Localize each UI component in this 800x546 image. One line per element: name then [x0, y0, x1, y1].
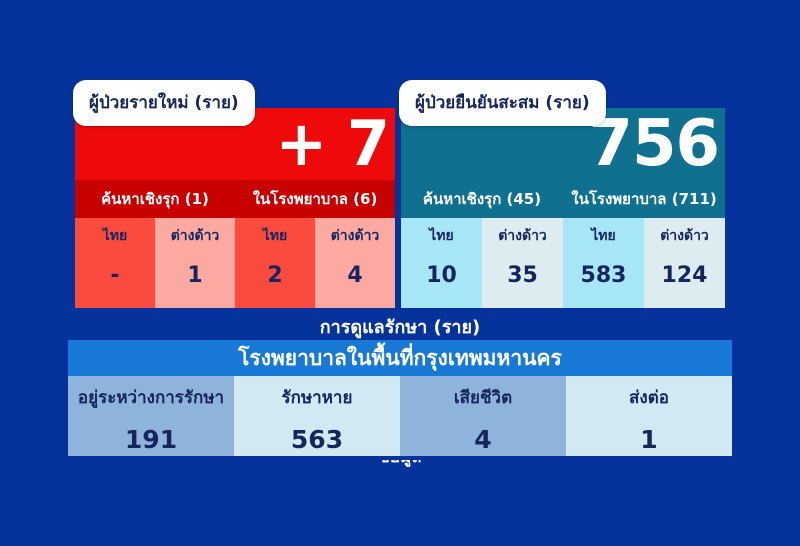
- cell-label: ไทย: [591, 225, 615, 247]
- cell-label: ต่างด้าว: [171, 225, 220, 247]
- new-cases-subheader-in-hospital: ในโรงพยาบาล (6): [235, 180, 395, 218]
- panel-new-cases: ผู้ป่วยรายใหม่ (ราย) + 7 ค้นหาเชิงรุก (1…: [75, 108, 395, 308]
- cell-value: 35: [507, 263, 538, 288]
- cell-value: 10: [426, 263, 457, 288]
- stat-panels: ผู้ป่วยรายใหม่ (ราย) + 7 ค้นหาเชิงรุก (1…: [75, 108, 725, 308]
- care-section-caption: การดูแลรักษา (ราย): [0, 312, 800, 341]
- new-cases-cells: ไทย - ต่างด้าว 1 ไทย 2 ต่างด้าว 4: [75, 218, 395, 308]
- care-cell-under-treatment: อยู่ระหว่างการรักษา 191: [68, 376, 234, 456]
- care-cell-value: 4: [474, 425, 491, 454]
- cumulative-cases-cell-screening-foreign: ต่างด้าว 35: [482, 218, 563, 308]
- cell-label: ไทย: [263, 225, 287, 247]
- care-table-cells: อยู่ระหว่างการรักษา 191 รักษาหาย 563 เสี…: [68, 376, 732, 456]
- new-cases-subheaders: ค้นหาเชิงรุก (1) ในโรงพยาบาล (6): [75, 180, 395, 218]
- new-cases-hero: ผู้ป่วยรายใหม่ (ราย) + 7: [75, 108, 395, 180]
- panel-cumulative-cases: ผู้ป่วยยืนยันสะสม (ราย) 756 ค้นหาเชิงรุก…: [401, 108, 725, 308]
- care-cell-value: 1: [640, 425, 657, 454]
- new-cases-pill-label: ผู้ป่วยรายใหม่ (ราย): [73, 80, 255, 126]
- clipped-footnote: ข้อมูล: [68, 460, 732, 472]
- new-cases-value: + 7: [275, 115, 389, 172]
- care-cell-label: ส่งต่อ: [629, 384, 669, 411]
- care-table: โรงพยาบาลในพื้นที่กรุงเทพมหานคร อยู่ระหว…: [68, 340, 732, 456]
- new-cases-cell-screening-foreign: ต่างด้าว 1: [155, 218, 235, 308]
- infographic-board: ผู้ป่วยรายใหม่ (ราย) + 7 ค้นหาเชิงรุก (1…: [0, 0, 800, 546]
- cell-value: 583: [581, 263, 627, 288]
- cell-value: -: [110, 263, 119, 288]
- care-cell-label: รักษาหาย: [282, 384, 353, 411]
- care-cell-deaths: เสียชีวิต 4: [400, 376, 566, 456]
- cell-label: ต่างด้าว: [331, 225, 380, 247]
- care-cell-label: อยู่ระหว่างการรักษา: [78, 384, 224, 411]
- cell-value: 1: [187, 263, 202, 288]
- cell-value: 4: [347, 263, 362, 288]
- cell-label: ต่างด้าว: [498, 225, 547, 247]
- clipped-footnote-text: ข้อมูล: [68, 460, 732, 466]
- cell-label: ไทย: [429, 225, 453, 247]
- cumulative-cases-subheader-in-hospital: ในโรงพยาบาล (711): [563, 180, 725, 218]
- cumulative-cases-subheader-active-screening: ค้นหาเชิงรุก (45): [401, 180, 563, 218]
- care-cell-referred: ส่งต่อ 1: [566, 376, 732, 456]
- new-cases-cell-screening-thai: ไทย -: [75, 218, 155, 308]
- cumulative-cases-cell-hospital-thai: ไทย 583: [563, 218, 644, 308]
- cell-value: 2: [267, 263, 282, 288]
- cumulative-cases-cell-screening-thai: ไทย 10: [401, 218, 482, 308]
- care-cell-recovered: รักษาหาย 563: [234, 376, 400, 456]
- cell-label: ต่างด้าว: [660, 225, 709, 247]
- cumulative-cases-cell-hospital-foreign: ต่างด้าว 124: [644, 218, 725, 308]
- cumulative-cases-subheaders: ค้นหาเชิงรุก (45) ในโรงพยาบาล (711): [401, 180, 725, 218]
- cumulative-cases-hero: ผู้ป่วยยืนยันสะสม (ราย) 756: [401, 108, 725, 180]
- cell-value: 124: [662, 263, 708, 288]
- care-cell-label: เสียชีวิต: [454, 384, 512, 411]
- cumulative-cases-value: 756: [588, 115, 719, 174]
- care-cell-value: 563: [291, 425, 343, 454]
- care-cell-value: 191: [125, 425, 177, 454]
- new-cases-cell-hospital-foreign: ต่างด้าว 4: [315, 218, 395, 308]
- cumulative-cases-cells: ไทย 10 ต่างด้าว 35 ไทย 583 ต่างด้าว 124: [401, 218, 725, 308]
- cell-label: ไทย: [103, 225, 127, 247]
- care-table-banner: โรงพยาบาลในพื้นที่กรุงเทพมหานคร: [68, 340, 732, 376]
- cumulative-cases-pill-label: ผู้ป่วยยืนยันสะสม (ราย): [399, 80, 606, 126]
- new-cases-subheader-active-screening: ค้นหาเชิงรุก (1): [75, 180, 235, 218]
- new-cases-cell-hospital-thai: ไทย 2: [235, 218, 315, 308]
